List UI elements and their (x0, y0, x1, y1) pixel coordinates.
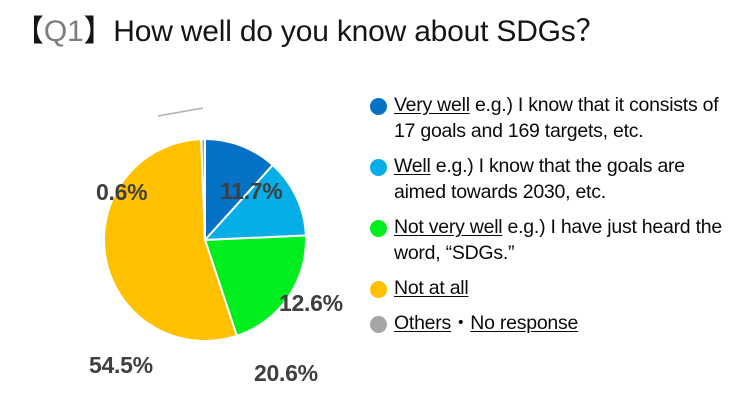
leader-line-others (158, 108, 203, 116)
legend-item-very-well[interactable]: Very well e.g.) I know that it consists … (366, 92, 734, 144)
legend-item-label: Very well e.g.) I know that it consists … (394, 92, 734, 144)
pie-slice-group (104, 139, 306, 341)
legend-bullet-icon (370, 159, 387, 176)
legend-item-label: Not very well e.g.) I have just heard th… (394, 214, 734, 266)
pie-chart-svg (60, 85, 360, 385)
legend-item-label: Others・No response (394, 310, 734, 336)
pie-label-not-at-all: 54.5% (89, 352, 153, 379)
chart-legend: Very well e.g.) I know that it consists … (366, 92, 734, 345)
legend-item-not-at-all[interactable]: Not at all (366, 275, 734, 301)
pie-label-others-no-response: 0.6% (96, 179, 147, 206)
legend-item-not-very-well[interactable]: Not very well e.g.) I have just heard th… (366, 214, 734, 266)
pie-label-well: 12.6% (279, 290, 343, 317)
legend-term-secondary: No response (470, 312, 578, 334)
page-title: 【Q1】How well do you know about SDGs？ (14, 12, 605, 52)
legend-bullet-icon (370, 220, 387, 237)
legend-item-label: Not at all (394, 275, 734, 301)
title-question-tag: Q1 (44, 15, 84, 48)
title-text: How well do you know about SDGs？ (113, 15, 605, 48)
legend-item-well[interactable]: Well e.g.) I know that the goals are aim… (366, 153, 734, 205)
title-bracket-close: 】 (83, 15, 113, 48)
legend-term: Well (394, 155, 431, 177)
legend-term: Others (394, 312, 451, 334)
title-bracket-open: 【 (14, 15, 44, 48)
legend-bullet-icon (370, 281, 387, 298)
legend-description: e.g.) I know that the goals are aimed to… (394, 155, 685, 203)
legend-item-label: Well e.g.) I know that the goals are aim… (394, 153, 734, 205)
pie-label-very-well: 11.7% (220, 178, 282, 205)
legend-term: Very well (394, 94, 470, 116)
legend-bullet-icon (370, 98, 387, 115)
legend-bullet-icon (370, 316, 387, 333)
pie-label-not-very-well: 20.6% (254, 360, 318, 387)
legend-term: Not very well (394, 216, 502, 238)
legend-separator: ・ (451, 312, 470, 334)
legend-term: Not at all (394, 277, 468, 299)
pie-chart: 11.7% 12.6% 20.6% 54.5% 0.6% (60, 85, 360, 385)
legend-item-others-no-response[interactable]: Others・No response (366, 310, 734, 336)
